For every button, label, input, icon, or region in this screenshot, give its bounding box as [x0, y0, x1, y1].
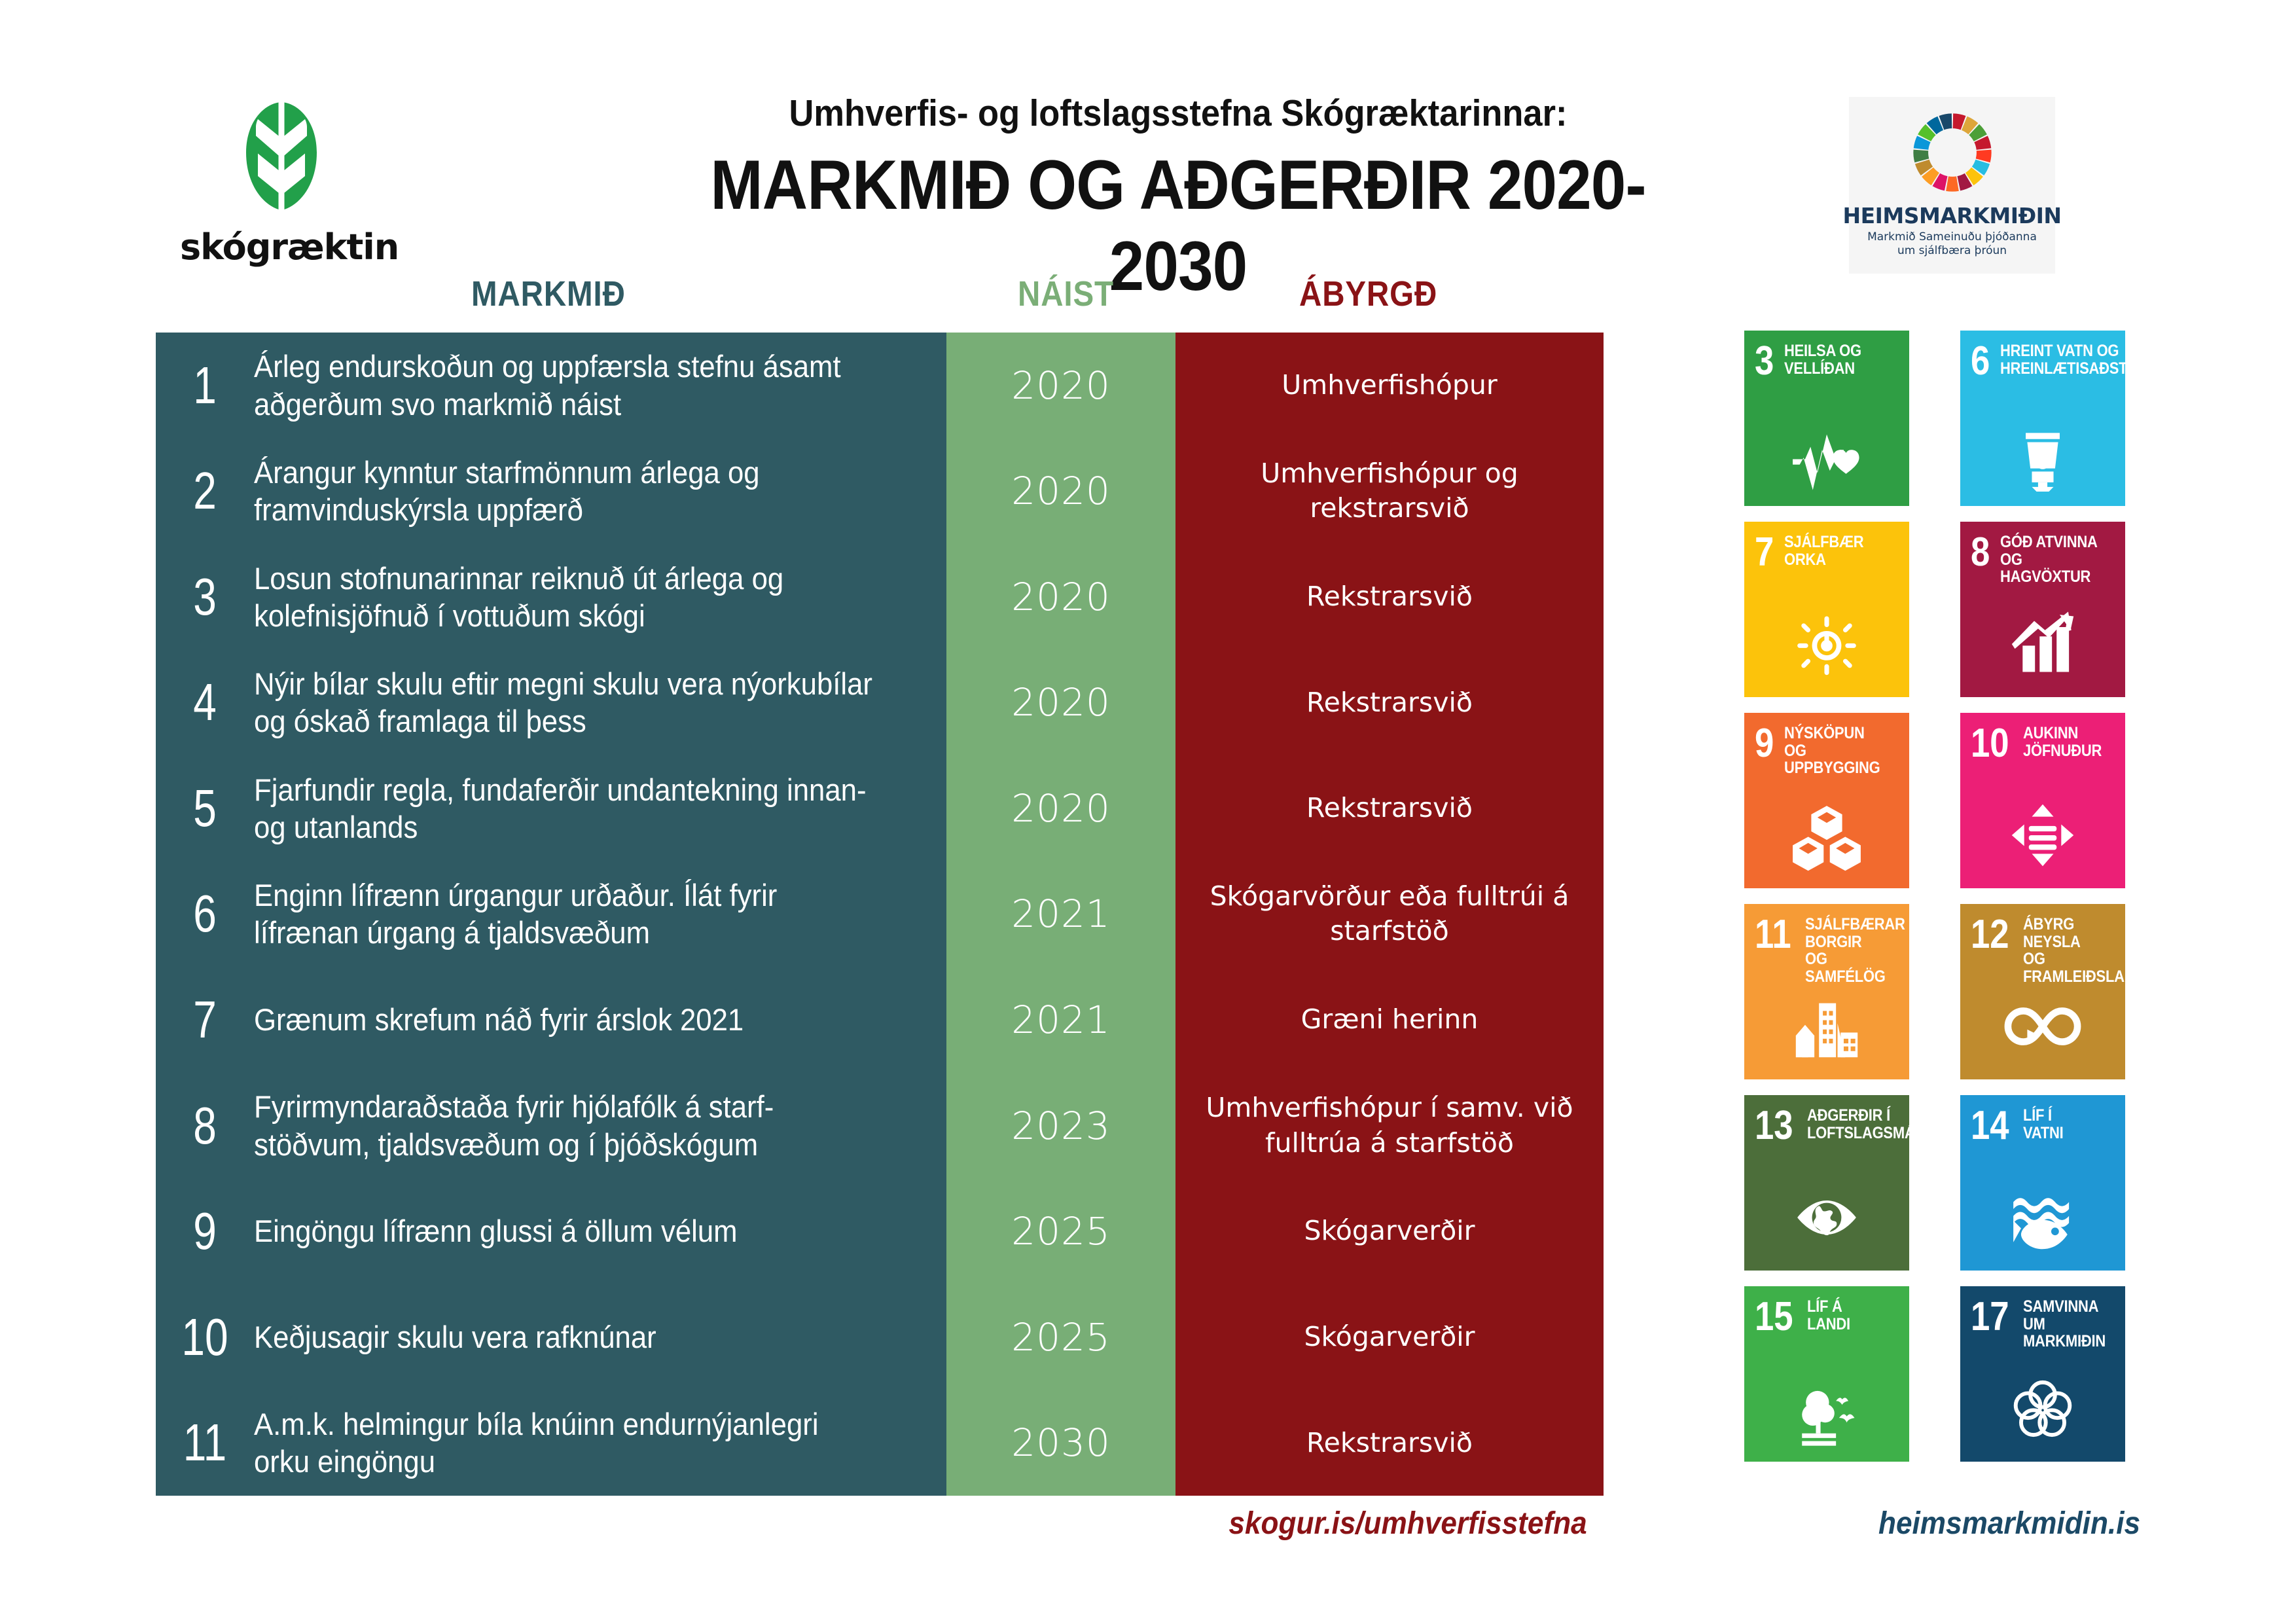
- sdg-goal-label-line1: SJÁLFBÆRAR BORGIR: [1805, 915, 1905, 951]
- responsibility-value: Umhverfishópur: [1175, 368, 1604, 403]
- growth-chart-icon: [1960, 605, 2125, 683]
- sdg-goal-label: HREINT VATN OGHREINLÆTISAÐSTAÐA: [2000, 342, 2157, 377]
- year-value: 2020: [946, 786, 1175, 831]
- goal-text: Losun stofnunarinnar reiknuð út árlega o…: [254, 560, 898, 635]
- sdg-goal-label-line1: GÓÐ ATVINNA: [2000, 533, 2098, 551]
- column-header-responsibility: ÁBYRGÐ: [1299, 274, 1437, 314]
- year-cell: 2021: [946, 861, 1175, 967]
- sdg-goal-number: 14: [1971, 1107, 2009, 1144]
- goal-number: 4: [166, 676, 244, 729]
- responsibility-value: Græni herinn: [1175, 1002, 1604, 1037]
- responsibility-value: Rekstrarsvið: [1175, 791, 1604, 825]
- year-cell: 2023: [946, 1073, 1175, 1179]
- responsibility-column: UmhverfishópurUmhverfishópur og rekstrar…: [1175, 333, 1604, 1496]
- sdg-goal-label: ÁBYRG NEYSLAOG FRAMLEIÐSLA: [2023, 916, 2125, 985]
- responsibility-cell: Umhverfishópur í samv. við fulltrúa á st…: [1175, 1073, 1604, 1179]
- sdg-goal-label: SJÁLFBÆRORKA: [1784, 533, 1863, 568]
- fish-waves-icon: [1960, 1179, 2125, 1256]
- city-buildings-icon: [1744, 988, 1909, 1065]
- goal-text: Enginn lífrænn úrgangur urðaður. Ílát fy…: [254, 876, 898, 952]
- sdg-logo-subtitle-line2: um sjálfbæra þróun: [1897, 244, 2007, 257]
- sdg-goal-label-line2: OG HAGVÖXTUR: [2000, 550, 2090, 586]
- table-row: 6Enginn lífrænn úrgangur urðaður. Ílát f…: [156, 861, 946, 967]
- goal-number: 6: [166, 888, 244, 940]
- sdg-goal-number: 8: [1971, 533, 1990, 571]
- sdg-goal-tile-12[interactable]: 12ÁBYRG NEYSLAOG FRAMLEIÐSLA: [1960, 904, 2125, 1079]
- sdg-goal-label-line2: OG SAMFÉLÖG: [1805, 950, 1886, 986]
- goal-number: 7: [166, 994, 244, 1046]
- sdg-goal-label-line1: AUKINN: [2023, 724, 2078, 742]
- goal-text: Árangur kynntur starfmönnum árlega og fr…: [254, 454, 898, 529]
- sdg-goal-label-line1: HEILSA OG: [1784, 342, 1861, 360]
- column-headers: MARKMIÐ NÁIST ÁBYRGÐ: [0, 274, 1617, 326]
- sdg-goal-tile-7[interactable]: 7SJÁLFBÆRORKA: [1744, 522, 1909, 697]
- table-row: 8Fyrirmyndaraðstaða fyrir hjólafólk á st…: [156, 1073, 946, 1179]
- responsibility-value: Umhverfishópur og rekstrarsvið: [1175, 456, 1604, 526]
- water-glass-icon: [1960, 414, 2125, 492]
- infinity-loop-icon: [1960, 988, 2125, 1065]
- partnership-rings-icon: [1960, 1370, 2125, 1447]
- goal-number: 9: [166, 1205, 244, 1257]
- responsibility-cell: Rekstrarsvið: [1175, 1390, 1604, 1496]
- sdg-goal-label: AUKINNJÖFNUÐUR: [2023, 725, 2102, 759]
- goal-number: 11: [166, 1416, 244, 1469]
- responsibility-cell: Skógarverðir: [1175, 1178, 1604, 1284]
- sdg-goal-label-line2: VATNI: [2023, 1124, 2063, 1142]
- sdg-goal-number: 17: [1971, 1298, 2009, 1335]
- table-row: 7Grænum skrefum náð fyrir árslok 2021: [156, 967, 946, 1073]
- sdg-goal-label: SAMVINNA UMMARKMIÐIN: [2023, 1298, 2106, 1350]
- table-row: 2Árangur kynntur starfmönnum árlega og f…: [156, 439, 946, 545]
- sdg-goal-label-line1: ÁBYRG NEYSLA: [2023, 915, 2081, 951]
- sdg-goal-number: 11: [1755, 916, 1791, 953]
- goal-number: 3: [166, 571, 244, 623]
- goal-number: 10: [166, 1311, 244, 1363]
- sdg-goal-tile-8[interactable]: 8GÓÐ ATVINNAOG HAGVÖXTUR: [1960, 522, 2125, 697]
- sdg-goal-tile-15[interactable]: 15LÍF ÁLANDI: [1744, 1286, 1909, 1462]
- sdg-goal-number: 9: [1755, 725, 1774, 762]
- sdg-goal-label-line1: NÝSKÖPUN OG: [1784, 724, 1865, 760]
- year-cell: 2030: [946, 1390, 1175, 1496]
- eye-earth-icon: [1744, 1179, 1909, 1256]
- responsibility-value: Rekstrarsvið: [1175, 685, 1604, 720]
- sdg-goal-label: SJÁLFBÆRAR BORGIROG SAMFÉLÖG: [1805, 916, 1905, 985]
- sdg-goal-label-line2: VELLÍÐAN: [1784, 359, 1855, 378]
- responsibility-cell: Græni herinn: [1175, 967, 1604, 1073]
- tree-birds-icon: [1744, 1370, 1909, 1447]
- goal-text: Árleg endurskoðun og uppfærsla stefnu ás…: [254, 348, 898, 423]
- leaf-icon: [232, 98, 331, 223]
- sdg-goal-label-line1: LÍF Á: [1807, 1297, 1842, 1316]
- year-value: 2020: [946, 363, 1175, 408]
- responsibility-cell: Rekstrarsvið: [1175, 544, 1604, 650]
- year-value: 2020: [946, 680, 1175, 725]
- sdg-goal-tile-6[interactable]: 6HREINT VATN OGHREINLÆTISAÐSTAÐA: [1960, 331, 2125, 506]
- goal-number: 2: [166, 465, 244, 517]
- sdg-logo-title: HEIMSMARKMIÐIN: [1842, 203, 2061, 228]
- sdg-goal-label-line2: LOFTSLAGSMÁLUM: [1807, 1124, 1945, 1142]
- heartbeat-icon: [1744, 414, 1909, 492]
- sdg-goal-tile-10[interactable]: 10AUKINNJÖFNUÐUR: [1960, 713, 2125, 888]
- year-cell: 2020: [946, 650, 1175, 756]
- sdg-logo-subtitle-line1: Markmið Sameinuðu þjóðanna: [1867, 230, 2037, 244]
- goal-text: Keðjusagir skulu vera rafknúnar: [254, 1318, 898, 1356]
- responsibility-value: Skógarverðir: [1175, 1214, 1604, 1248]
- sdg-goal-label-line2: MARKMIÐIN: [2023, 1332, 2106, 1350]
- sdg-goal-label: LÍF ÁLANDI: [1807, 1298, 1850, 1333]
- responsibility-value: Skógarvörður eða fulltrúi á starfstöð: [1175, 879, 1604, 949]
- heimsmarkmidin-link[interactable]: heimsmarkmidin.is: [1840, 1506, 2178, 1542]
- sdg-goal-label-line1: LÍF Í: [2023, 1106, 2052, 1125]
- sdg-goal-label-line2: LANDI: [1807, 1315, 1850, 1333]
- sdg-goal-number: 6: [1971, 342, 1990, 380]
- year-value: 2025: [946, 1209, 1175, 1254]
- sdg-goal-number: 12: [1971, 916, 2009, 953]
- year-cell: 2020: [946, 333, 1175, 439]
- responsibility-value: Rekstrarsvið: [1175, 1426, 1604, 1460]
- subtitle: Umhverfis- og loftslagsstefna Skógræktar…: [636, 92, 1720, 135]
- sdg-goal-label: GÓÐ ATVINNAOG HAGVÖXTUR: [2000, 533, 2101, 586]
- column-header-goal: MARKMIÐ: [471, 274, 626, 314]
- responsibility-cell: Rekstrarsvið: [1175, 755, 1604, 861]
- table-row: 10Keðjusagir skulu vera rafknúnar: [156, 1284, 946, 1390]
- table-row: 3Losun stofnunarinnar reiknuð út árlega …: [156, 544, 946, 650]
- table-row: 1Árleg endurskoðun og uppfærsla stefnu á…: [156, 333, 946, 439]
- sdg-goal-tile-11[interactable]: 11SJÁLFBÆRAR BORGIROG SAMFÉLÖG: [1744, 904, 1909, 1079]
- sdg-goal-number: 3: [1755, 342, 1774, 380]
- sdg-goal-grid: 3HEILSA OGVELLÍÐAN6HREINT VATN OGHREINLÆ…: [1744, 331, 2170, 1483]
- sdg-logo-subtitle: Markmið Sameinuðu þjóðanna um sjálfbæra …: [1867, 230, 2037, 259]
- goals-table: 1Árleg endurskoðun og uppfærsla stefnu á…: [156, 333, 1604, 1496]
- goal-column: 1Árleg endurskoðun og uppfærsla stefnu á…: [156, 333, 946, 1496]
- goal-number: 1: [166, 359, 244, 412]
- responsibility-cell: Umhverfishópur og rekstrarsvið: [1175, 439, 1604, 545]
- sdg-goal-label: HEILSA OGVELLÍÐAN: [1784, 342, 1861, 377]
- year-column: 2020202020202020202020212021202320252025…: [946, 333, 1175, 1496]
- cubes-icon: [1744, 797, 1909, 874]
- heimsmarkmidin-logo: HEIMSMARKMIÐIN Markmið Sameinuðu þjóðann…: [1849, 97, 2055, 274]
- responsibility-cell: Skógarvörður eða fulltrúi á starfstöð: [1175, 861, 1604, 967]
- year-value: 2030: [946, 1420, 1175, 1465]
- page-header: skógræktin Umhverfis- og loftslagsstefna…: [0, 0, 2296, 288]
- year-cell: 2020: [946, 544, 1175, 650]
- year-cell: 2025: [946, 1284, 1175, 1390]
- skogur-link[interactable]: skogur.is/umhverfisstefna: [1229, 1506, 1566, 1542]
- year-value: 2020: [946, 469, 1175, 513]
- table-row: 4Nýir bílar skulu eftir megni skulu vera…: [156, 650, 946, 756]
- equality-arrows-icon: [1960, 797, 2125, 874]
- year-cell: 2020: [946, 439, 1175, 545]
- table-row: 5Fjarfundir regla, fundaferðir undantekn…: [156, 755, 946, 861]
- responsibility-cell: Rekstrarsvið: [1175, 650, 1604, 756]
- organization-logo: skógræktin: [180, 98, 383, 268]
- goal-text: Eingöngu lífrænn glussi á öllum vélum: [254, 1212, 898, 1250]
- year-value: 2020: [946, 575, 1175, 619]
- goal-text: A.m.k. helmingur bíla knúinn endurnýjanl…: [254, 1405, 898, 1481]
- sdg-goal-label-line2: UPPBYGGING: [1784, 759, 1880, 777]
- sdg-goal-number: 10: [1971, 725, 2009, 762]
- sdg-goal-tile-3[interactable]: 3HEILSA OGVELLÍÐAN: [1744, 331, 1909, 506]
- sdg-goal-label: LÍF ÍVATNI: [2023, 1107, 2063, 1142]
- year-value: 2021: [946, 998, 1175, 1042]
- sdg-goal-number: 15: [1755, 1298, 1793, 1335]
- goal-text: Fjarfundir regla, fundaferðir undantekni…: [254, 771, 898, 846]
- goal-text: Grænum skrefum náð fyrir árslok 2021: [254, 1001, 898, 1038]
- responsibility-cell: Umhverfishópur: [1175, 333, 1604, 439]
- table-row: 11A.m.k. helmingur bíla knúinn endurnýja…: [156, 1390, 946, 1496]
- sdg-goal-number: 13: [1755, 1107, 1793, 1144]
- sdg-goal-label: NÝSKÖPUN OGUPPBYGGING: [1784, 725, 1885, 777]
- year-value: 2025: [946, 1315, 1175, 1360]
- sdg-goal-label-line2: JÖFNUÐUR: [2023, 742, 2102, 760]
- goal-number: 5: [166, 782, 244, 835]
- sdg-goal-label-line2: ORKA: [1784, 550, 1826, 569]
- sdg-goal-label: AÐGERÐIR ÍLOFTSLAGSMÁLUM: [1807, 1107, 1945, 1142]
- column-header-year: NÁIST: [1018, 274, 1114, 314]
- table-row: 9Eingöngu lífrænn glussi á öllum vélum: [156, 1178, 946, 1284]
- responsibility-value: Umhverfishópur í samv. við fulltrúa á st…: [1175, 1091, 1604, 1161]
- goal-text: Nýir bílar skulu eftir megni skulu vera …: [254, 665, 898, 740]
- sdg-goal-tile-9[interactable]: 9NÝSKÖPUN OGUPPBYGGING: [1744, 713, 1909, 888]
- sdg-goal-label-line1: SAMVINNA UM: [2023, 1297, 2098, 1333]
- sdg-goal-tile-17[interactable]: 17SAMVINNA UMMARKMIÐIN: [1960, 1286, 2125, 1462]
- responsibility-value: Rekstrarsvið: [1175, 579, 1604, 614]
- year-value: 2023: [946, 1104, 1175, 1148]
- sdg-color-wheel-icon: [1906, 106, 1999, 199]
- sdg-goal-label-line2: OG FRAMLEIÐSLA: [2023, 950, 2125, 986]
- responsibility-cell: Skógarverðir: [1175, 1284, 1604, 1390]
- year-cell: 2021: [946, 967, 1175, 1073]
- sdg-goal-tile-14[interactable]: 14LÍF ÍVATNI: [1960, 1095, 2125, 1271]
- goal-number: 8: [166, 1100, 244, 1152]
- sdg-goal-label-line1: SJÁLFBÆR: [1784, 533, 1863, 551]
- sdg-goal-number: 7: [1755, 533, 1774, 571]
- logo-wordmark: skógræktin: [180, 226, 383, 268]
- sdg-goal-tile-13[interactable]: 13AÐGERÐIR ÍLOFTSLAGSMÁLUM: [1744, 1095, 1909, 1271]
- sdg-goal-label-line1: HREINT VATN OG: [2000, 342, 2119, 360]
- year-value: 2021: [946, 892, 1175, 936]
- year-cell: 2025: [946, 1178, 1175, 1284]
- goal-text: Fyrirmyndaraðstaða fyrir hjólafólk á sta…: [254, 1088, 898, 1163]
- responsibility-value: Skógarverðir: [1175, 1320, 1604, 1354]
- sdg-goal-label-line1: AÐGERÐIR Í: [1807, 1106, 1890, 1125]
- sdg-goal-label-line2: HREINLÆTISAÐSTAÐA: [2000, 359, 2157, 378]
- year-cell: 2020: [946, 755, 1175, 861]
- sun-power-icon: [1744, 605, 1909, 683]
